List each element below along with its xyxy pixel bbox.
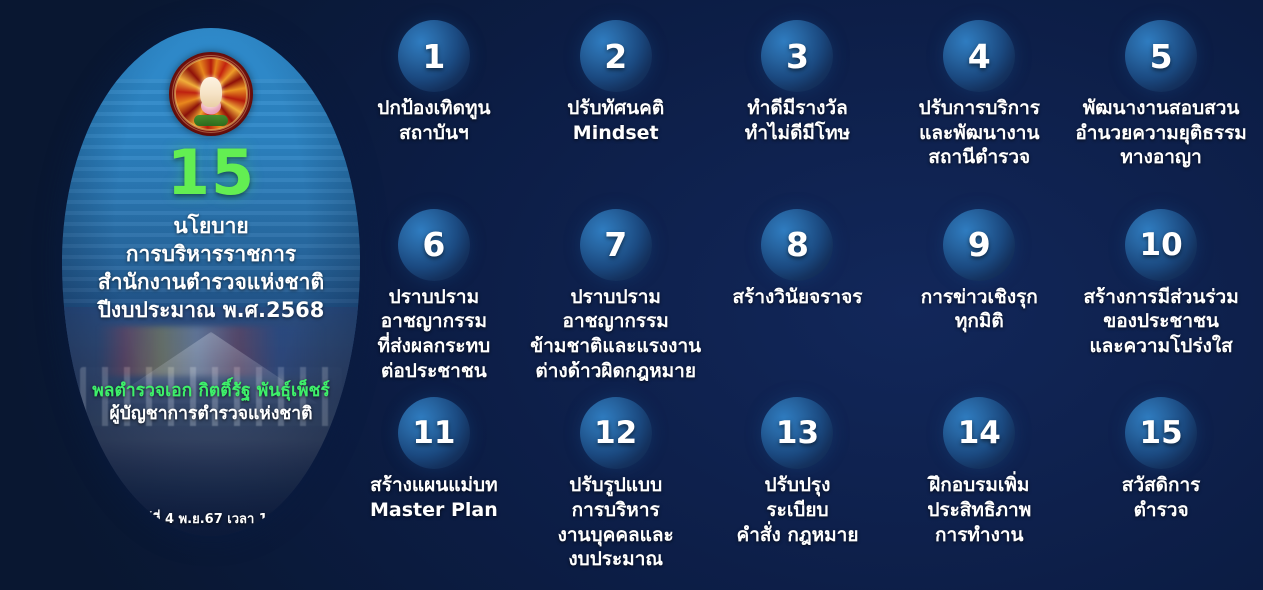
panel-subtitle-3: สำนักงานตำรวจแห่งชาติ xyxy=(98,268,324,296)
panel-subtitle-1: นโยบาย xyxy=(173,212,248,240)
policy-item: 3ทำดีมีรางวัล ทำไม่ดีมีโทษ xyxy=(709,14,887,203)
policy-item: 9การข่าวเชิงรุก ทุกมิติ xyxy=(890,203,1068,392)
commander-role: ผู้บัญชาการตำรวจแห่งชาติ xyxy=(62,403,360,427)
policy-grid: 1ปกป้องเทิดทูน สถาบันฯ2ปรับทัศนคติ Minds… xyxy=(345,14,1250,580)
policy-item: 2ปรับทัศนคติ Mindset xyxy=(527,14,705,203)
policy-label: การข่าวเชิงรุก ทุกมิติ xyxy=(919,285,1040,334)
policy-label: พัฒนางานสอบสวน อำนวยความยุติธรรม ทางอาญา xyxy=(1073,96,1248,170)
policy-number-badge: 10 xyxy=(1125,209,1197,281)
policy-label: สร้างแผนแม่บท Master Plan xyxy=(368,473,500,522)
policy-number-badge: 6 xyxy=(398,209,470,281)
policy-item: 7ปราบปราม อาชญากรรม ข้ามชาติและแรงงาน ต่… xyxy=(527,203,705,392)
policy-item: 6ปราบปราม อาชญากรรม ที่ส่งผลกระทบ ต่อประ… xyxy=(345,203,523,392)
royal-thai-police-emblem-icon xyxy=(169,52,253,136)
policy-label: ทำดีมีรางวัล ทำไม่ดีมีโทษ xyxy=(743,96,852,145)
policy-item: 13ปรับปรุง ระเบียบ คำสั่ง กฎหมาย xyxy=(709,391,887,580)
policy-label: สร้างการมีส่วนร่วม ของประชาชน และความโปร… xyxy=(1081,285,1240,359)
commander-name: พลตำรวจเอก กิตติ์รัฐ พันธุ์เพ็ชร์ xyxy=(62,380,360,403)
policy-item: 10สร้างการมีส่วนร่วม ของประชาชน และความโ… xyxy=(1072,203,1250,392)
policy-number-badge: 3 xyxy=(761,20,833,92)
policy-number-badge: 13 xyxy=(761,397,833,469)
policy-number-badge: 11 xyxy=(398,397,470,469)
policy-number-badge: 7 xyxy=(580,209,652,281)
policy-number-badge: 5 xyxy=(1125,20,1197,92)
infographic-canvas: 15 นโยบาย การบริหารราชการ สำนักงานตำรวจแ… xyxy=(0,0,1263,590)
policy-item: 12ปรับรูปแบบ การบริหาร งานบุคคลและ งบประ… xyxy=(527,391,705,580)
policy-number-badge: 15 xyxy=(1125,397,1197,469)
policy-number-badge: 1 xyxy=(398,20,470,92)
policy-label: ปรับทัศนคติ Mindset xyxy=(565,96,666,145)
policy-label: ฝึกอบรมเพิ่ม ประสิทธิภาพ การทำงาน xyxy=(925,473,1033,547)
policy-item: 11สร้างแผนแม่บท Master Plan xyxy=(345,391,523,580)
policy-item: 1ปกป้องเทิดทูน สถาบันฯ xyxy=(345,14,523,203)
policy-number-badge: 8 xyxy=(761,209,833,281)
policy-label: ปราบปราม อาชญากรรม ที่ส่งผลกระทบ ต่อประช… xyxy=(376,285,493,384)
policy-number-badge: 12 xyxy=(580,397,652,469)
policy-label: ปกป้องเทิดทูน สถาบันฯ xyxy=(375,96,492,145)
policy-count: 15 xyxy=(167,142,255,204)
policy-number-badge: 14 xyxy=(943,397,1015,469)
policy-label: ปรับรูปแบบ การบริหาร งานบุคคลและ งบประมา… xyxy=(556,473,676,572)
policy-number-badge: 9 xyxy=(943,209,1015,281)
policy-item: 5พัฒนางานสอบสวน อำนวยความยุติธรรม ทางอาญ… xyxy=(1072,14,1250,203)
policy-label: ปรับการบริการ และพัฒนางาน สถานีตำรวจ xyxy=(917,96,1042,170)
policy-item: 14ฝึกอบรมเพิ่ม ประสิทธิภาพ การทำงาน xyxy=(890,391,1068,580)
event-datetime: วันจันทร์ที่ 4 พ.ย.67 เวลา 14.00 น. xyxy=(62,508,360,529)
policy-number-badge: 2 xyxy=(580,20,652,92)
policy-label: ปรับปรุง ระเบียบ คำสั่ง กฎหมาย xyxy=(735,473,861,547)
policy-item: 15สวัสดิการ ตำรวจ xyxy=(1072,391,1250,580)
policy-label: สวัสดิการ ตำรวจ xyxy=(1120,473,1203,522)
policy-item: 8สร้างวินัยจราจร xyxy=(709,203,887,392)
left-title-panel: 15 นโยบาย การบริหารราชการ สำนักงานตำรวจแ… xyxy=(62,28,360,536)
policy-label: ปราบปราม อาชญากรรม ข้ามชาติและแรงงาน ต่า… xyxy=(528,285,703,384)
policy-number-badge: 4 xyxy=(943,20,1015,92)
commander-block: พลตำรวจเอก กิตติ์รัฐ พันธุ์เพ็ชร์ ผู้บัญ… xyxy=(62,380,360,426)
panel-subtitle-4: ปีงบประมาณ พ.ศ.2568 xyxy=(98,296,325,324)
policy-label: สร้างวินัยจราจร xyxy=(731,285,865,310)
emblem-arc-text xyxy=(172,55,250,133)
panel-subtitle-2: การบริหารราชการ xyxy=(126,240,296,268)
policy-item: 4ปรับการบริการ และพัฒนางาน สถานีตำรวจ xyxy=(890,14,1068,203)
